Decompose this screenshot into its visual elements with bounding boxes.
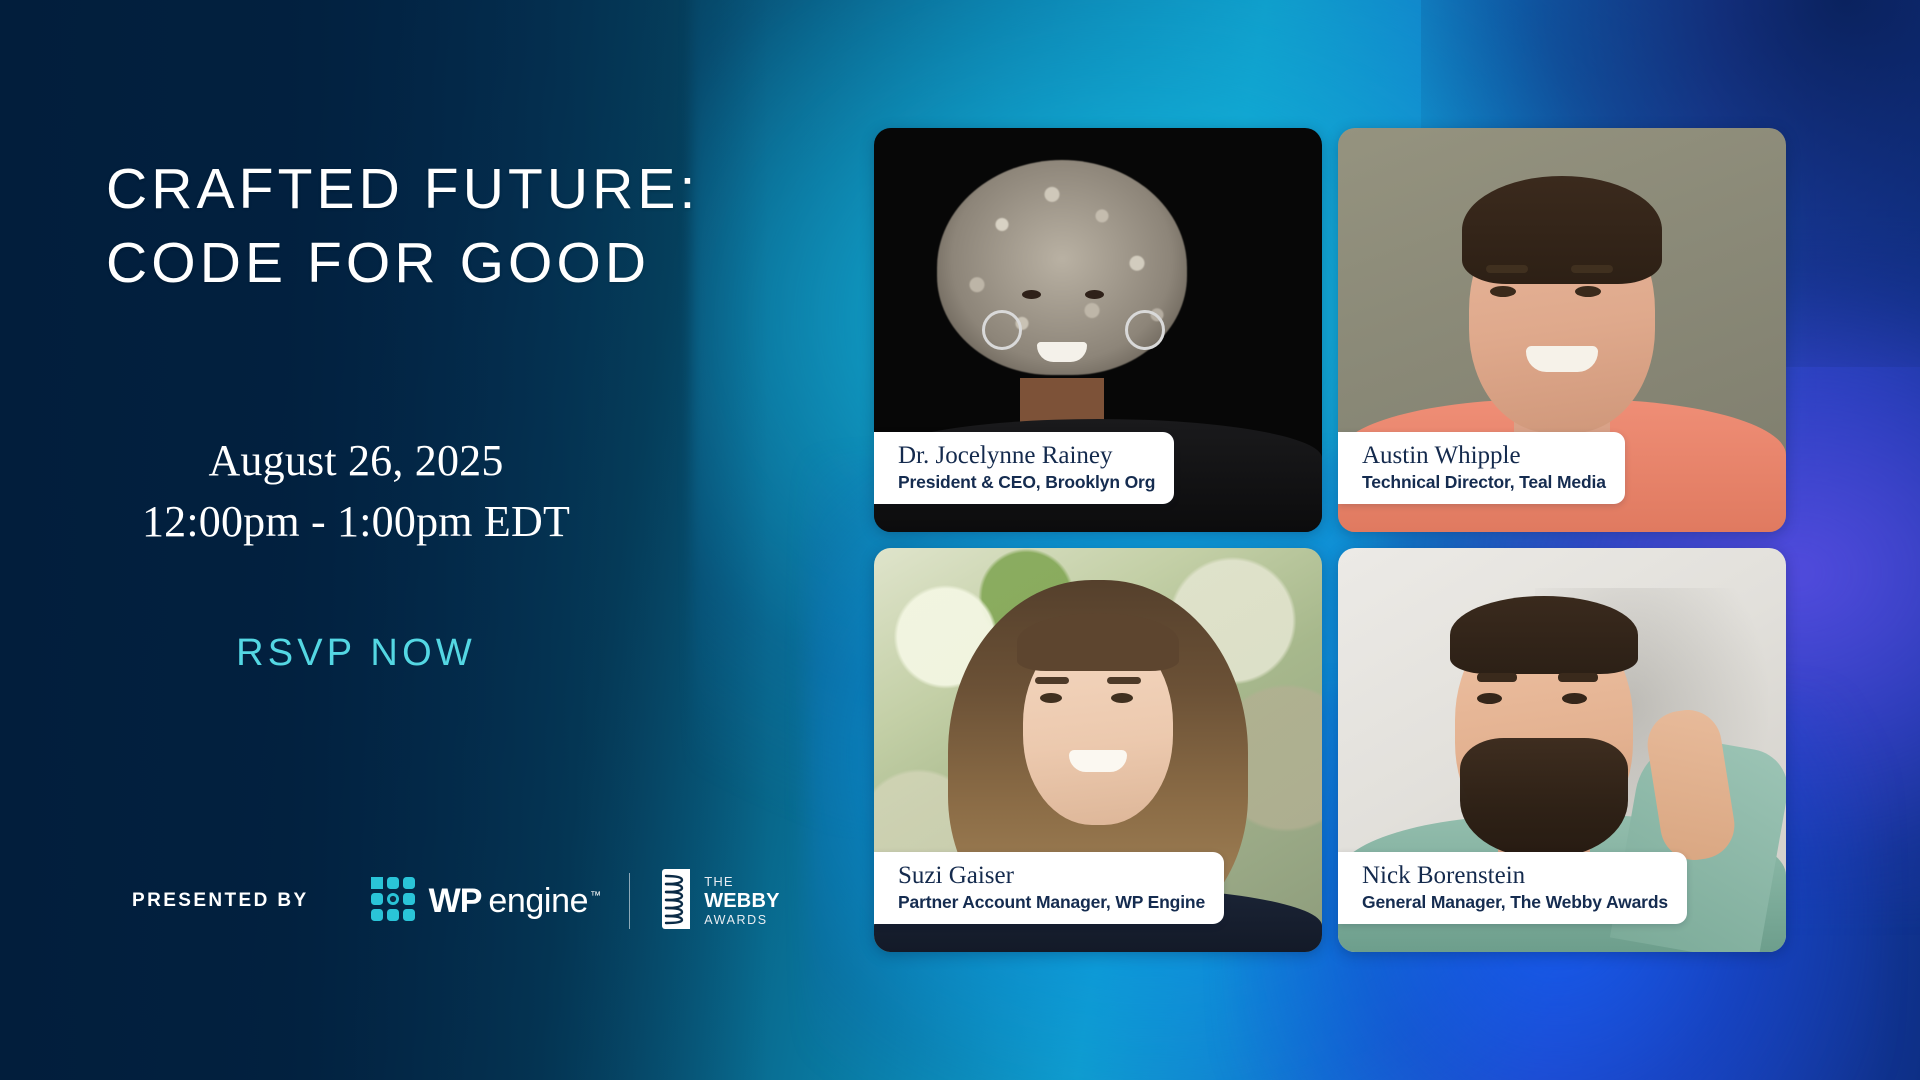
wp-engine-wp-text: WP [429,882,482,921]
speaker-name: Nick Borenstein [1362,861,1668,891]
wp-engine-engine-text: engine [488,882,588,921]
portrait-eye-right [1575,286,1601,297]
portrait-brow-left [1486,265,1528,273]
speaker-title: President & CEO, Brooklyn Org [898,471,1155,493]
portrait-brow-right [1558,673,1598,682]
speaker-name-plate: Nick Borenstein General Manager, The Web… [1338,852,1687,924]
portrait-eye-left [1490,286,1516,297]
event-datetime: August 26, 2025 12:00pm - 1:00pm EDT [106,430,606,552]
wp-engine-logo[interactable]: WP engine ™ [369,875,601,928]
wp-engine-wordmark: WP engine ™ [429,882,601,921]
event-time: 12:00pm - 1:00pm EDT [106,491,606,552]
portrait-brow-left [1035,677,1069,684]
presented-by-label: PRESENTED BY [132,890,309,912]
speaker-title: General Manager, The Webby Awards [1362,891,1668,913]
speaker-card[interactable]: Austin Whipple Technical Director, Teal … [1338,128,1786,532]
portrait-smile [1037,342,1087,362]
event-date: August 26, 2025 [106,430,606,491]
speaker-name: Dr. Jocelynne Rainey [898,441,1155,471]
left-content-column: CRAFTED FUTURE: CODE FOR GOOD August 26,… [0,0,870,1080]
speaker-card[interactable]: Nick Borenstein General Manager, The Web… [1338,548,1786,952]
portrait-brow-left [1477,673,1517,682]
speaker-card[interactable]: Dr. Jocelynne Rainey President & CEO, Br… [874,128,1322,532]
webby-awards-logo[interactable]: THE WEBBY AWARDS [656,869,779,934]
speaker-name-plate: Austin Whipple Technical Director, Teal … [1338,432,1625,504]
portrait-brow-right [1571,265,1613,273]
portrait-brow-right [1107,677,1141,684]
portrait-eye-right [1085,290,1104,299]
presented-by-row: PRESENTED BY [132,865,780,937]
portrait-smile [1526,346,1598,372]
speaker-card[interactable]: Suzi Gaiser Partner Account Manager, WP … [874,548,1322,952]
portrait-hair [1450,596,1638,674]
webby-wordmark: THE WEBBY AWARDS [704,875,779,927]
speaker-name: Austin Whipple [1362,441,1606,471]
portrait-earring-right [1125,310,1165,350]
portrait-eye-left [1022,290,1041,299]
trademark-symbol: ™ [590,890,601,902]
speaker-title: Partner Account Manager, WP Engine [898,891,1205,913]
speaker-name: Suzi Gaiser [898,861,1205,891]
webby-coil-icon [656,869,696,934]
page-title: CRAFTED FUTURE: CODE FOR GOOD [106,152,699,300]
webby-webby-text: WEBBY [704,891,779,911]
wp-engine-grid-icon [369,875,417,928]
speakers-grid: Dr. Jocelynne Rainey President & CEO, Br… [874,128,1786,952]
logo-divider [629,873,631,929]
portrait-earring-left [982,310,1022,350]
rsvp-now-link[interactable]: RSVP NOW [106,632,606,675]
portrait-hair-top [1017,613,1179,671]
webby-the-text: THE [704,875,779,888]
webby-awards-text: AWARDS [704,914,779,927]
speaker-name-plate: Suzi Gaiser Partner Account Manager, WP … [874,852,1224,924]
portrait-beard [1460,738,1628,858]
portrait-smile [1069,750,1127,772]
speaker-title: Technical Director, Teal Media [1362,471,1606,493]
promo-banner: CRAFTED FUTURE: CODE FOR GOOD August 26,… [0,0,1920,1080]
speaker-name-plate: Dr. Jocelynne Rainey President & CEO, Br… [874,432,1174,504]
